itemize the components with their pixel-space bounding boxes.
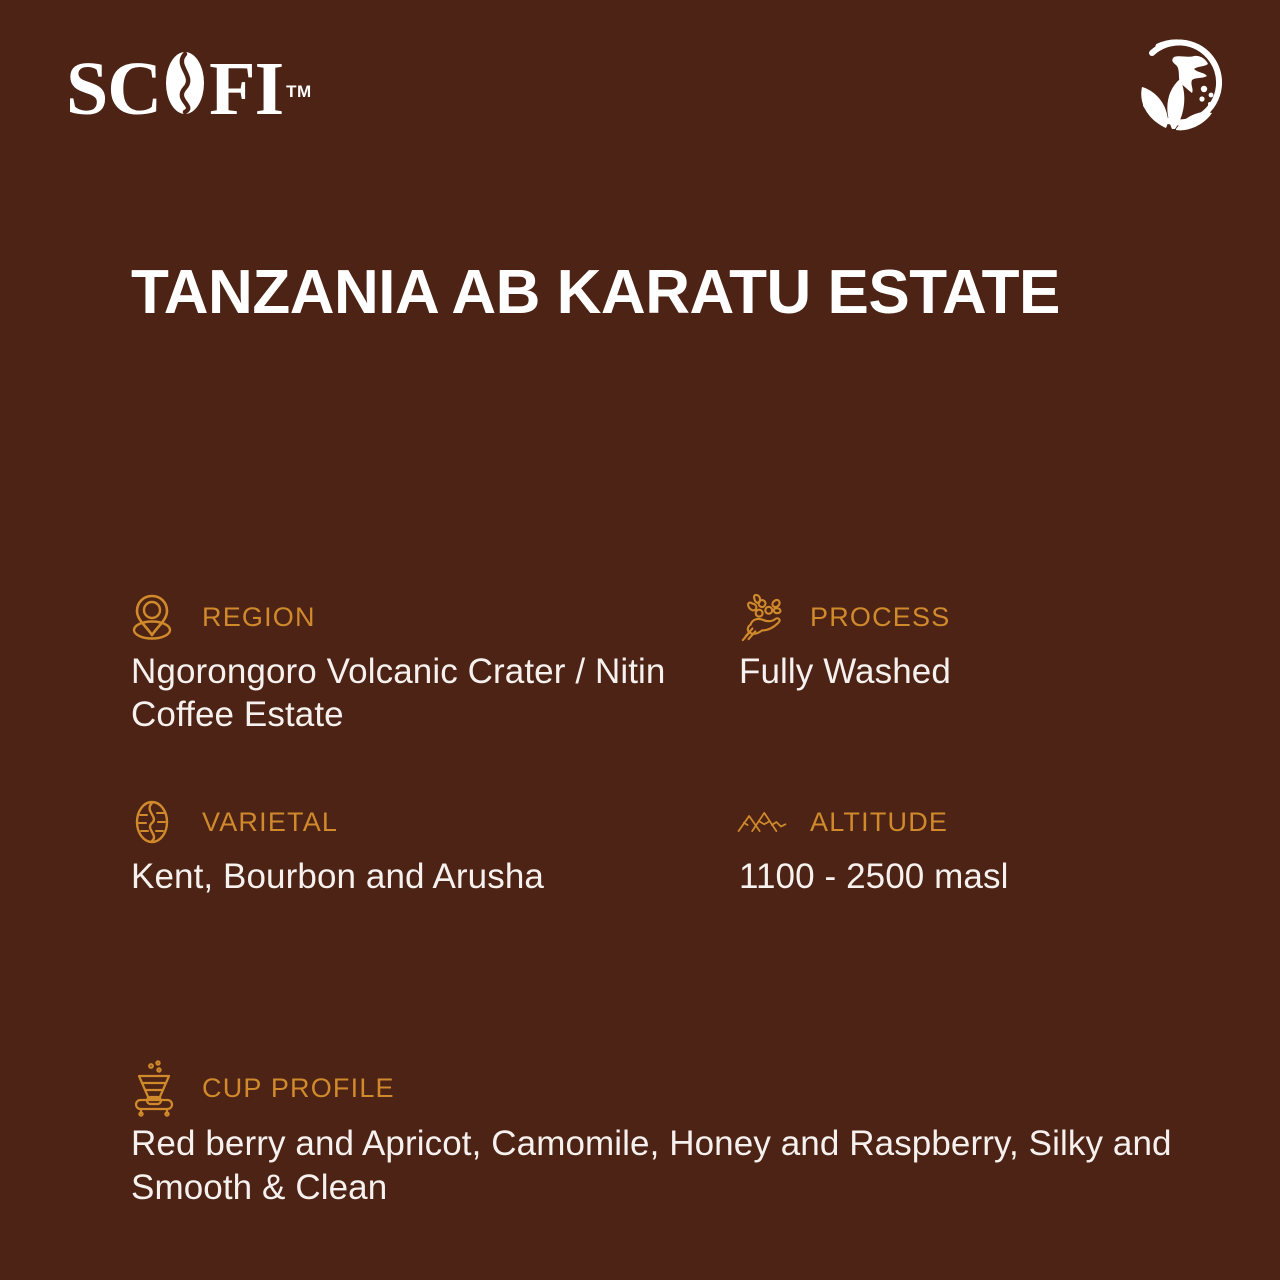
globe-leaves-emblem — [1122, 33, 1232, 143]
field-process-label: PROCESS — [810, 602, 950, 633]
trademark-symbol: TM — [286, 56, 312, 128]
field-cup-profile-header: CUP PROFILE — [131, 1058, 1191, 1118]
brand-logo: SC FI TM — [66, 48, 312, 129]
field-region-label: REGION — [202, 602, 316, 633]
mountain-peaks-icon — [739, 797, 787, 847]
coffee-bean-icon — [162, 48, 208, 129]
field-varietal-value: Kent, Bourbon and Arusha — [131, 855, 739, 898]
brand-wordmark: SC FI TM — [66, 48, 312, 129]
field-region-value: Ngorongoro Volcanic Crater / Nitin Coffe… — [131, 650, 739, 736]
field-varietal: VARIETAL Kent, Bourbon and Arusha — [131, 795, 739, 898]
field-altitude-header: ALTITUDE — [739, 795, 1151, 849]
field-cup-profile-label: CUP PROFILE — [202, 1073, 395, 1104]
field-process: PROCESS Fully Washed — [739, 590, 1151, 795]
coffee-spec-card: SC FI TM TAN — [0, 0, 1280, 1280]
field-process-value: Fully Washed — [739, 650, 1151, 693]
field-altitude: ALTITUDE 1100 - 2500 masl — [739, 795, 1151, 898]
cupping-brewer-icon — [131, 1059, 179, 1117]
field-varietal-header: VARIETAL — [131, 795, 739, 849]
map-pin-icon — [131, 592, 179, 642]
field-cup-profile: CUP PROFILE Red berry and Apricot, Camom… — [131, 1058, 1191, 1210]
brand-name-right: FI — [209, 53, 283, 125]
attributes-grid: REGION Ngorongoro Volcanic Crater / Niti… — [131, 590, 1151, 898]
page-title: TANZANIA AB KARATU ESTATE — [131, 258, 1171, 328]
field-process-header: PROCESS — [739, 590, 1151, 644]
brand-name-left: SC — [66, 53, 161, 125]
field-altitude-label: ALTITUDE — [810, 807, 948, 838]
hand-holding-cherries-icon — [739, 592, 787, 642]
field-altitude-value: 1100 - 2500 masl — [739, 855, 1151, 898]
field-region: REGION Ngorongoro Volcanic Crater / Niti… — [131, 590, 739, 795]
attributes-row-2: VARIETAL Kent, Bourbon and Arusha — [131, 795, 1151, 898]
field-varietal-label: VARIETAL — [202, 807, 338, 838]
field-region-header: REGION — [131, 590, 739, 644]
field-cup-profile-value: Red berry and Apricot, Camomile, Honey a… — [131, 1122, 1191, 1210]
coffee-bean-icon — [131, 797, 179, 847]
attributes-row-1: REGION Ngorongoro Volcanic Crater / Niti… — [131, 590, 1151, 795]
